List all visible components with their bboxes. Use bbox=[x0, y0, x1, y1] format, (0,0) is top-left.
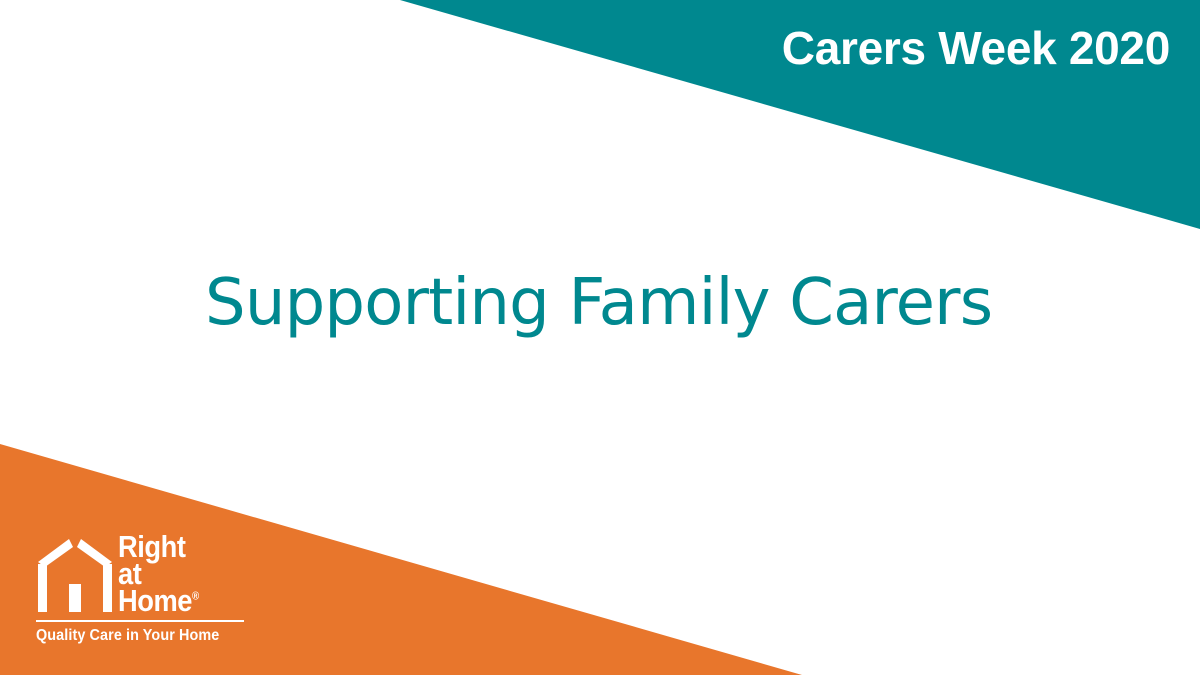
logo-word-home-text: Home bbox=[118, 583, 192, 618]
logo-tagline: Quality Care in Your Home bbox=[36, 627, 219, 645]
page-title: Supporting Family Carers bbox=[205, 268, 992, 338]
slide-canvas: Carers Week 2020 Supporting Family Carer… bbox=[0, 0, 1200, 675]
house-icon bbox=[36, 536, 114, 612]
header-title: Carers Week 2020 bbox=[782, 22, 1170, 75]
logo-divider bbox=[36, 620, 244, 622]
logo-mark-row: Right at Home® bbox=[36, 534, 246, 612]
registered-trademark-icon: ® bbox=[192, 591, 199, 603]
logo-wordmark: Right at Home® bbox=[118, 530, 246, 612]
logo-word-home: Home® bbox=[118, 588, 231, 614]
brand-logo: Right at Home® Quality Care in Your Home bbox=[36, 534, 246, 648]
